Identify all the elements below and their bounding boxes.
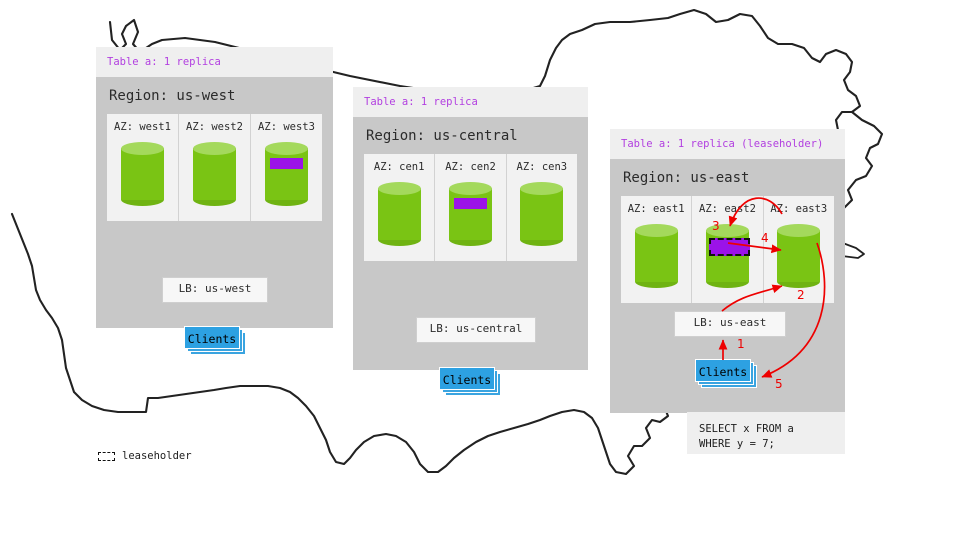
arrow-label-4: 4 [761, 231, 769, 245]
az-container-us-west: AZ: west1 AZ: west2 AZ [107, 114, 322, 221]
arrow-label-1: 1 [737, 337, 745, 351]
cylinder-body [777, 230, 820, 282]
az-west1[interactable]: AZ: west1 [107, 114, 178, 221]
leaseholder-marker [709, 238, 750, 256]
az-label: AZ: east1 [621, 203, 691, 215]
cylinder-top [520, 182, 563, 195]
panel-header-us-east: Table a: 1 replica (leaseholder) [610, 129, 845, 159]
region-title-us-central: Region: us-central [364, 117, 577, 154]
az-west2[interactable]: AZ: west2 [178, 114, 250, 221]
replica-cylinder[interactable] [378, 182, 421, 246]
cylinder-body [378, 188, 421, 240]
az-label: AZ: east2 [692, 203, 762, 215]
az-label: AZ: west2 [179, 121, 250, 133]
cylinder-body [121, 148, 164, 200]
arrow-label-3: 3 [712, 219, 720, 233]
cylinder-body [635, 230, 678, 282]
panel-body-us-central: Region: us-central AZ: cen1 AZ: cen2 [353, 117, 588, 261]
leaseholder-marker [270, 158, 303, 169]
cylinder-top [193, 142, 236, 155]
replica-cylinder[interactable] [449, 182, 492, 246]
replica-cylinder[interactable] [193, 142, 236, 206]
sql-query-box: SELECT x FROM a WHERE y = 7; [687, 412, 845, 454]
az-label: AZ: cen1 [364, 161, 434, 173]
cylinder-body [520, 188, 563, 240]
panel-body-us-west: Region: us-west AZ: west1 AZ: west2 [96, 77, 333, 221]
az-east1[interactable]: AZ: east1 [621, 196, 691, 303]
az-west3[interactable]: AZ: west3 [250, 114, 322, 221]
region-title-us-east: Region: us-east [621, 159, 834, 196]
arrow-label-2: 2 [797, 288, 805, 302]
az-label: AZ: west1 [107, 121, 178, 133]
panel-body-us-east: Region: us-east AZ: east1 AZ: east2 [610, 159, 845, 303]
cylinder-top [378, 182, 421, 195]
az-label: AZ: east3 [764, 203, 834, 215]
load-balancer-us-west[interactable]: LB: us-west [162, 277, 268, 303]
clients-us-east[interactable]: Clients [695, 359, 759, 389]
panel-header-us-central: Table a: 1 replica [353, 87, 588, 117]
region-panel-us-east: Table a: 1 replica (leaseholder) Region:… [610, 129, 845, 413]
region-title-us-west: Region: us-west [107, 77, 322, 114]
arrow-label-5: 5 [775, 377, 783, 391]
cylinder-top [449, 182, 492, 195]
load-balancer-us-central[interactable]: LB: us-central [416, 317, 536, 343]
az-container-us-central: AZ: cen1 AZ: cen2 [364, 154, 577, 261]
diagram-canvas: Table a: 1 replica Region: us-west AZ: w… [0, 0, 960, 540]
clients-label[interactable]: Clients [184, 326, 240, 349]
az-cen1[interactable]: AZ: cen1 [364, 154, 434, 261]
replica-cylinder[interactable] [265, 142, 308, 206]
az-east3[interactable]: AZ: east3 [763, 196, 834, 303]
dashed-rect-icon [98, 452, 115, 461]
cylinder-top [635, 224, 678, 237]
az-cen2[interactable]: AZ: cen2 [434, 154, 505, 261]
az-east2[interactable]: AZ: east2 [691, 196, 762, 303]
az-label: AZ: cen3 [507, 161, 577, 173]
panel-header-us-west: Table a: 1 replica [96, 47, 333, 77]
az-label: AZ: west3 [251, 121, 322, 133]
load-balancer-us-east[interactable]: LB: us-east [674, 311, 786, 337]
cylinder-top [265, 142, 308, 155]
cylinder-body [265, 148, 308, 200]
az-label: AZ: cen2 [435, 161, 505, 173]
replica-cylinder[interactable] [635, 224, 678, 288]
cylinder-top [777, 224, 820, 237]
replica-cylinder[interactable] [121, 142, 164, 206]
az-cen3[interactable]: AZ: cen3 [506, 154, 577, 261]
clients-us-central[interactable]: Clients [439, 367, 503, 397]
clients-label[interactable]: Clients [439, 367, 495, 390]
region-panel-us-central: Table a: 1 replica Region: us-central AZ… [353, 87, 588, 370]
legend: leaseholder [98, 450, 192, 462]
az-container-us-east: AZ: east1 AZ: east2 [621, 196, 834, 303]
clients-us-west[interactable]: Clients [184, 326, 248, 356]
cylinder-body [449, 188, 492, 240]
replica-cylinder[interactable] [777, 224, 820, 288]
leaseholder-marker [454, 198, 487, 209]
region-panel-us-west: Table a: 1 replica Region: us-west AZ: w… [96, 47, 333, 328]
legend-label: leaseholder [122, 450, 192, 462]
replica-cylinder[interactable] [706, 224, 749, 288]
replica-cylinder[interactable] [520, 182, 563, 246]
cylinder-top [121, 142, 164, 155]
cylinder-body [193, 148, 236, 200]
clients-label[interactable]: Clients [695, 359, 751, 382]
